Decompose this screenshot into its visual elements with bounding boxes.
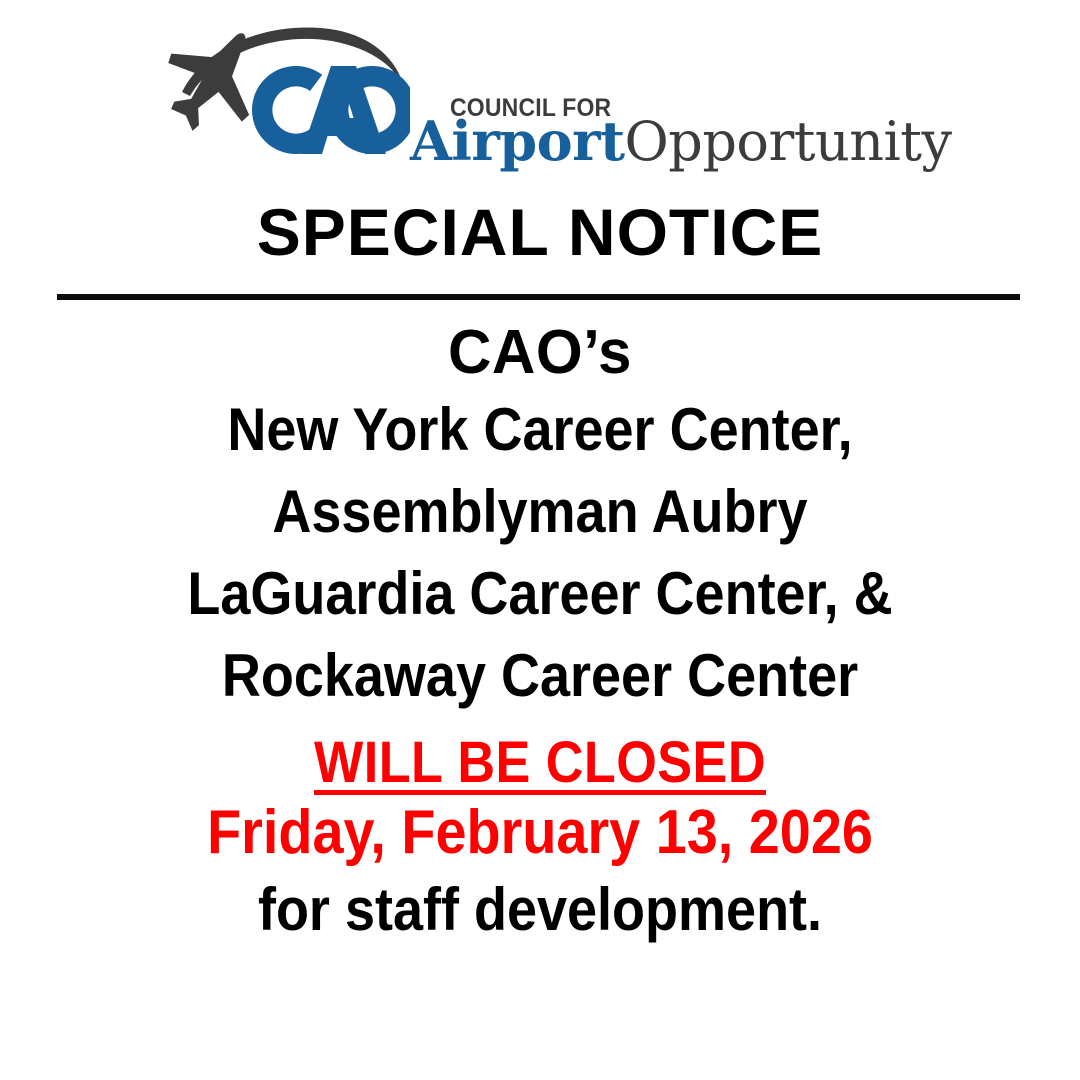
notice-line-rockaway-career-center: Rockaway Career Center (54, 646, 1026, 728)
notice-line-assemblyman-aubry: Assemblyman Aubry (54, 482, 1026, 564)
notice-line-cao: CAO’s (16, 312, 1064, 400)
notice-line-closure-date: Friday, February 13, 2026 (54, 802, 1026, 880)
notice-line-new-york-career-center: New York Career Center, (54, 400, 1026, 482)
special-notice-poster: COUNCIL FOR AirportOpportunity SPECIAL N… (0, 0, 1080, 1080)
notice-body: CAO’s New York Career Center, Assemblyma… (0, 312, 1080, 940)
cao-monogram (248, 66, 410, 158)
notice-line-reason: for staff development. (54, 880, 1026, 940)
wordmark-main: AirportOpportunity (410, 114, 952, 169)
cao-logo-mark (160, 18, 410, 168)
cao-logo: COUNCIL FOR AirportOpportunity (0, 18, 1080, 168)
title-divider (57, 294, 1020, 300)
notice-line-laguardia-career-center: LaGuardia Career Center, & (54, 564, 1026, 646)
will-be-closed-underlined-text: WILL BE CLOSED (314, 730, 766, 795)
notice-line-will-be-closed: WILL BE CLOSED (54, 728, 1026, 802)
airplane-icon (164, 33, 255, 133)
wordmark-opportunity: Opportunity (625, 110, 952, 173)
logo-inner: COUNCIL FOR AirportOpportunity (160, 18, 920, 168)
wordmark-airport: Airport (410, 109, 625, 173)
cao-wordmark: COUNCIL FOR AirportOpportunity (410, 18, 920, 168)
page-title: SPECIAL NOTICE (0, 196, 1080, 269)
